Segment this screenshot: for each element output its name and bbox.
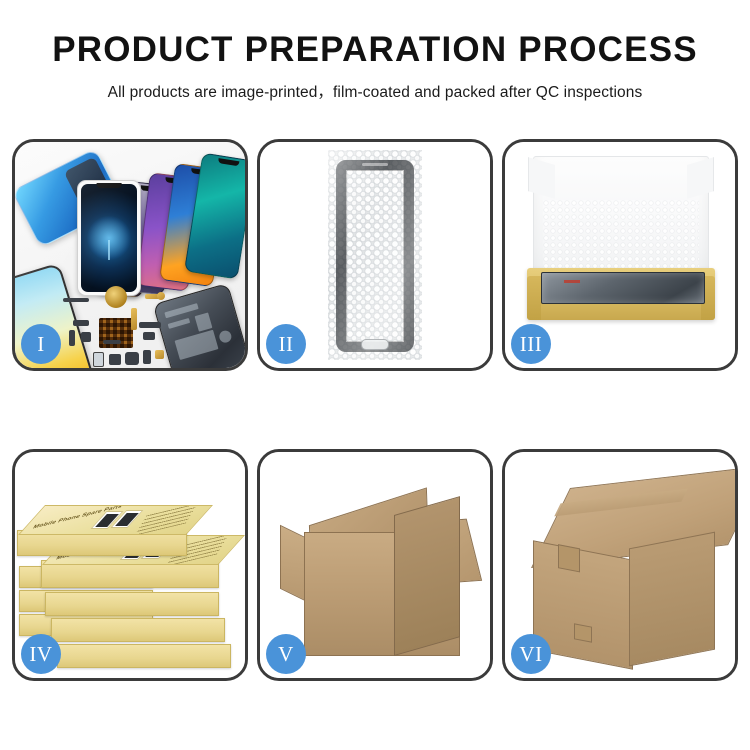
step-badge-2: II [266, 324, 306, 364]
step-panel-6[interactable]: VI [502, 449, 738, 681]
step-badge-4: IV [21, 634, 61, 674]
page-subtitle: All products are image-printed，film-coat… [0, 80, 750, 102]
step-panel-5[interactable]: V [257, 449, 493, 681]
product-preparation-infographic: PRODUCT PREPARATION PROCESS All products… [0, 0, 750, 750]
step-panel-1[interactable]: I [12, 139, 248, 371]
open-carton-icon [288, 498, 470, 656]
step-panel-2[interactable]: II [257, 139, 493, 371]
step-badge-5: V [266, 634, 306, 674]
step-panel-4[interactable]: Mobile Phone Spare Parts Mobile Phone Sp… [12, 449, 248, 681]
carton-side-face-icon [629, 532, 715, 667]
box-tray-icon [527, 268, 715, 320]
step-panel-3[interactable]: III [502, 139, 738, 371]
coil-icon [105, 286, 127, 308]
header: PRODUCT PREPARATION PROCESS All products… [0, 0, 750, 102]
open-kraft-box-icon [527, 156, 715, 328]
step-badge-6: VI [511, 634, 551, 674]
front-glass-icon [77, 180, 141, 296]
bubble-wrap-icon [328, 150, 422, 360]
packed-screen-icon [541, 272, 705, 304]
spare-parts-group [67, 292, 207, 368]
page-title: PRODUCT PREPARATION PROCESS [0, 32, 750, 67]
sealed-carton-icon [531, 488, 717, 650]
carton-body-icon [304, 532, 460, 656]
steps-grid: I II [12, 139, 738, 681]
step-badge-1: I [21, 324, 61, 364]
step-badge-3: III [511, 324, 551, 364]
